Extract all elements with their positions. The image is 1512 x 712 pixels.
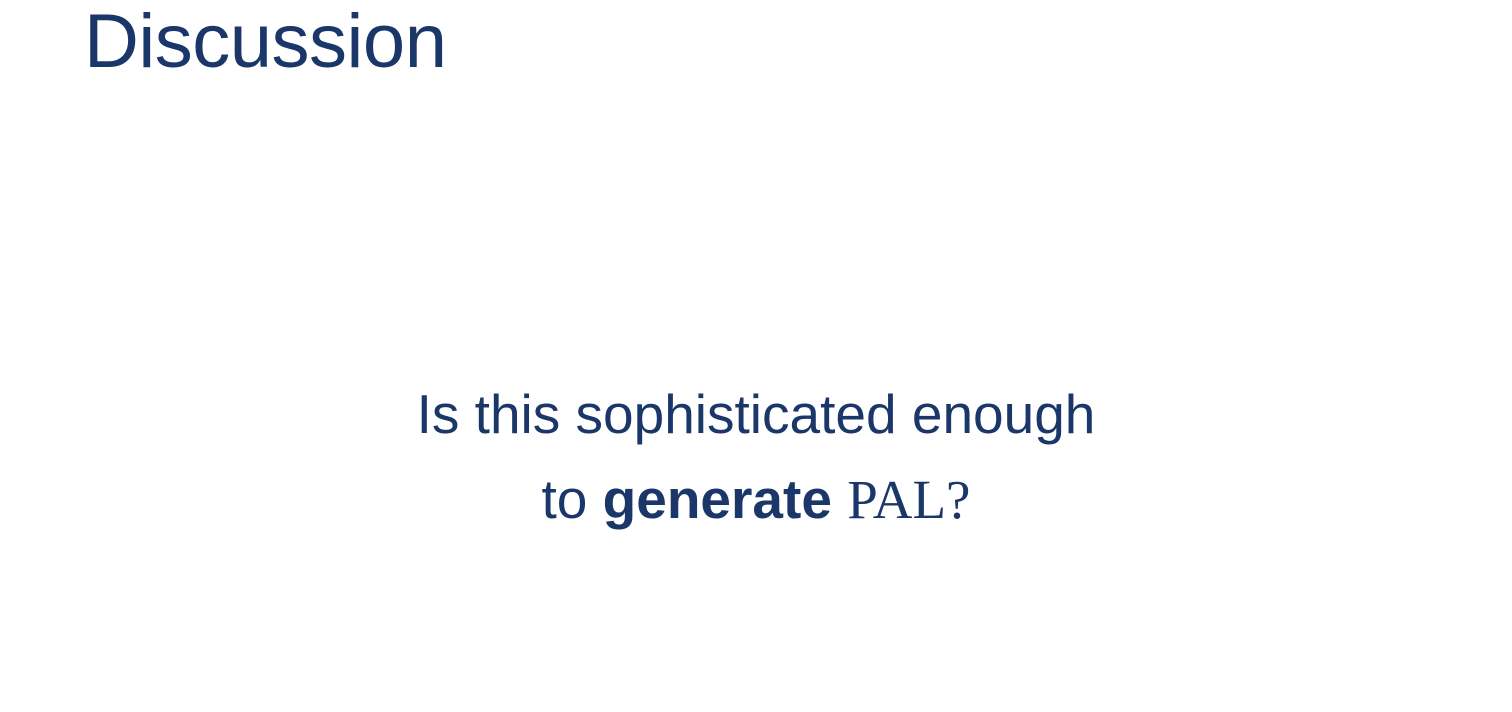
- slide-canvas: Discussion Is this sophisticated enough …: [0, 0, 1512, 712]
- body-line-1: Is this sophisticated enough: [0, 372, 1512, 457]
- page-title: Discussion: [84, 4, 446, 80]
- slide-body: Is this sophisticated enough to generate…: [0, 372, 1512, 542]
- body-line-2-prefix: to: [542, 468, 603, 530]
- body-line-2-space: [832, 468, 847, 530]
- body-line-2-term: PAL?: [847, 469, 970, 530]
- body-line-2-emphasis: generate: [603, 468, 832, 530]
- body-line-1-text: Is this sophisticated enough: [417, 383, 1096, 445]
- body-line-2: to generate PAL?: [0, 457, 1512, 542]
